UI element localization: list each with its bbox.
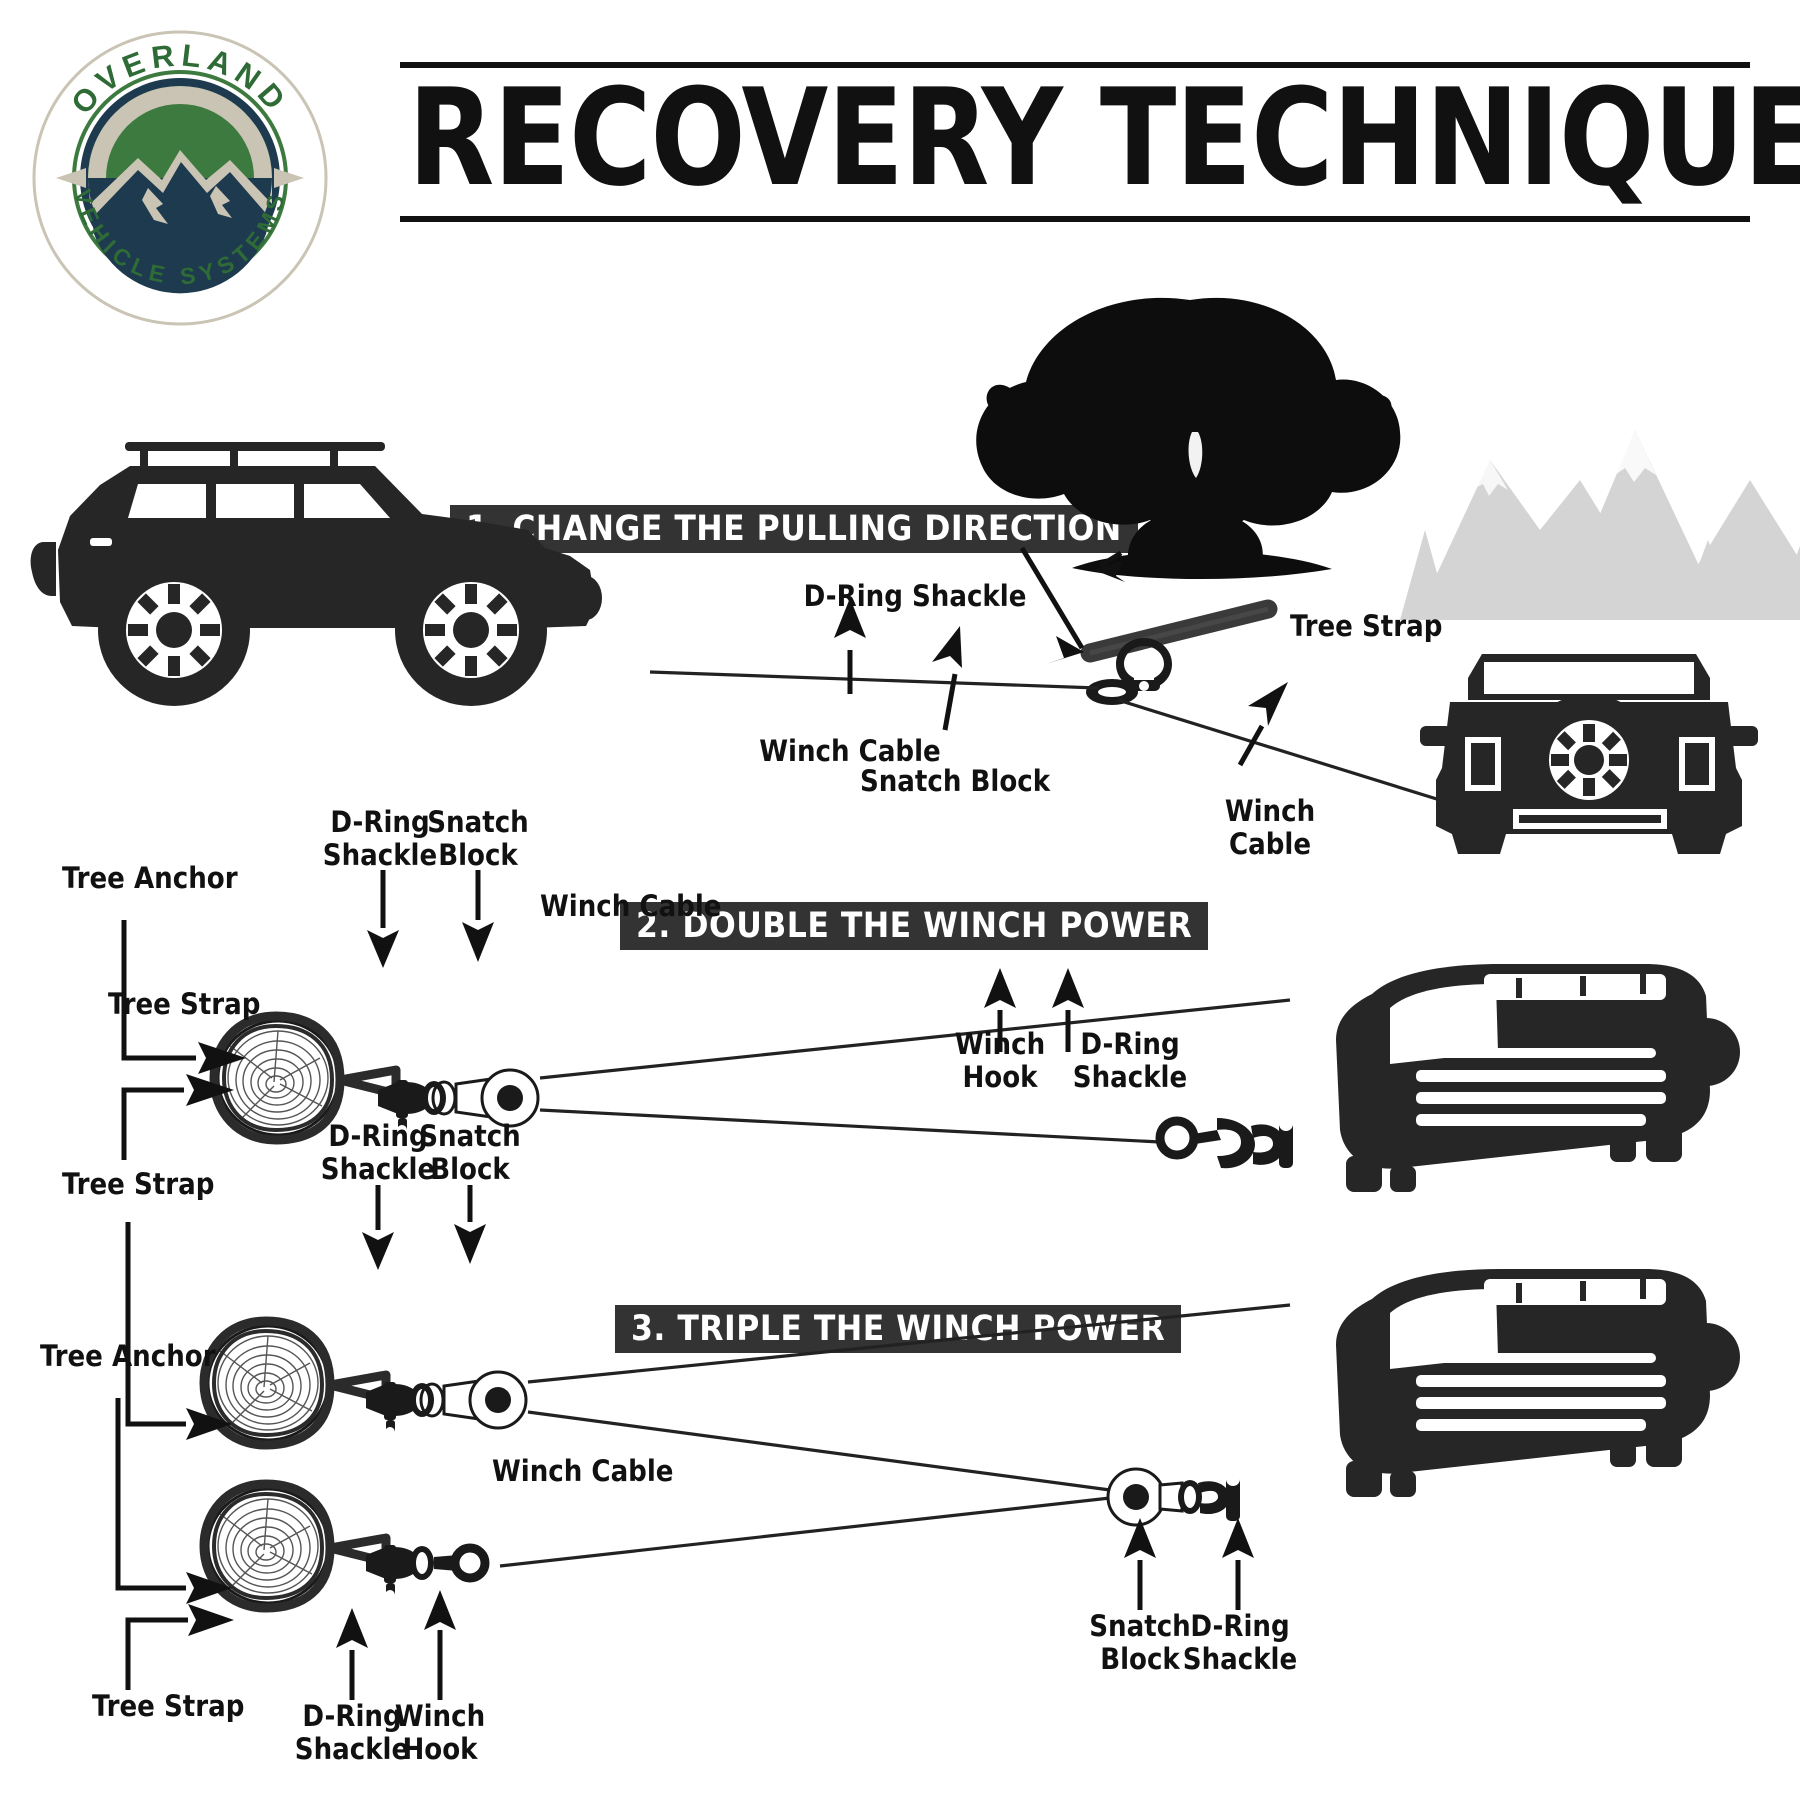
infographic-canvas: OVERLAND VEHICLE SYSTEMS RECOVERY TECHNI… <box>0 0 1800 1800</box>
label-winch-hook-s3: Winch Hook <box>350 1700 530 1766</box>
section-3-callout-lines <box>0 0 1800 1800</box>
label-snatch-block-s3: Snatch Block <box>370 1120 570 1186</box>
label-tree-anchor-s3: Tree Anchor <box>40 1340 300 1373</box>
label-winch-cable-s3: Winch Cable <box>492 1455 772 1488</box>
label-d-ring-shackle-3-s3: D-Ring Shackle <box>1140 1610 1340 1676</box>
label-tree-strap-s3: Tree Strap <box>62 1168 322 1201</box>
